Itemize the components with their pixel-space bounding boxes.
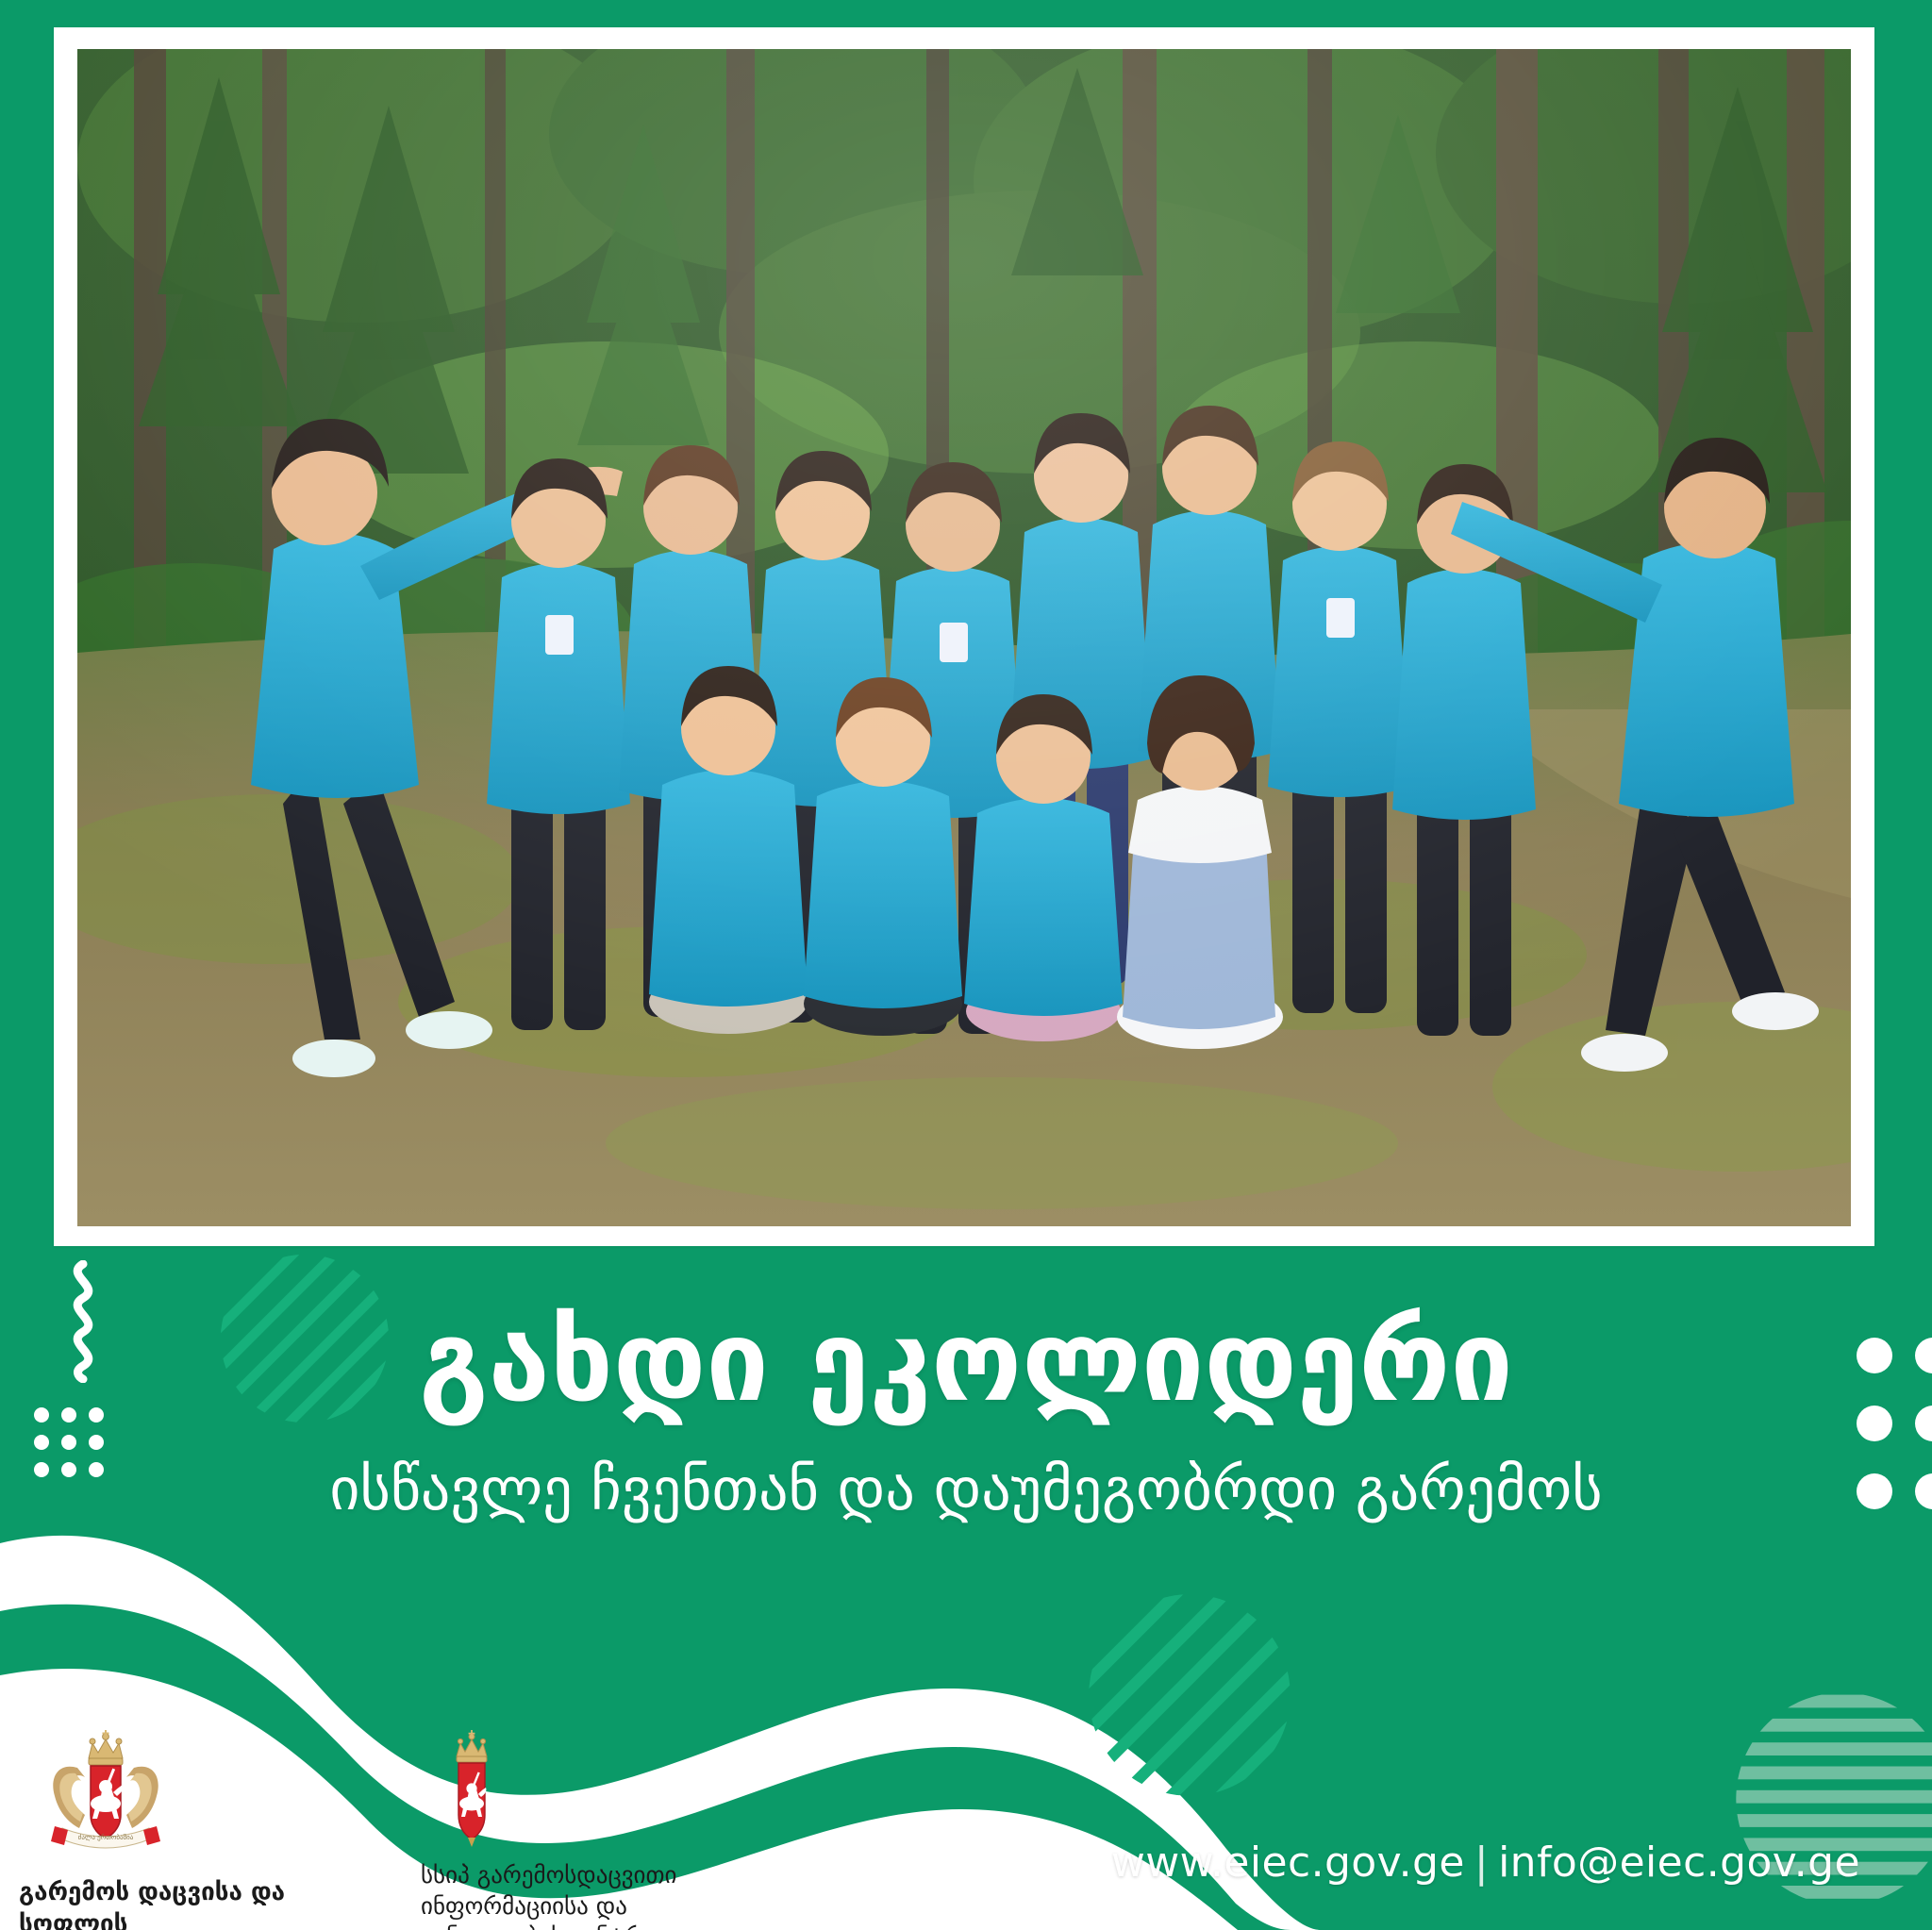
georgia-lesser-coat-of-arms-icon (434, 1724, 796, 1849)
ministry-logo-text: გარემოს დაცვისა და სოფლის მეურნეობის სამ… (19, 1877, 394, 1930)
email-link[interactable]: info@eiec.gov.ge (1498, 1838, 1860, 1887)
georgia-greater-coat-of-arms-icon: ძალა ერთობაშია (40, 1724, 394, 1866)
camp-group-photo (77, 49, 1851, 1226)
photo-frame (54, 27, 1874, 1246)
footer-logos: ძალა ერთობაშია გარემოს დაცვისა და სოფლის… (0, 1724, 1038, 1930)
contact-line: www.eiec.gov.ge|info@eiec.gov.ge (1111, 1838, 1860, 1887)
photo-illustration (77, 49, 1851, 1226)
website-link[interactable]: www.eiec.gov.ge (1111, 1838, 1465, 1887)
striped-circle-diagonal-left-icon (219, 1253, 391, 1424)
squiggle-icon (58, 1260, 108, 1383)
eiec-logo: სსიპ გარემოსდაცვითი ინფორმაციისა და განა… (419, 1724, 796, 1930)
eiec-logo-text: სსიპ გარემოსდაცვითი ინფორმაციისა და განა… (421, 1860, 796, 1930)
contact-separator: | (1474, 1838, 1489, 1887)
ministry-logo: ძალა ერთობაშია გარემოს დაცვისა და სოფლის… (17, 1724, 394, 1930)
dot-grid-large-icon (1857, 1338, 1932, 1526)
dot-grid-small-icon (34, 1407, 104, 1477)
striped-circle-diagonal-center-icon (1087, 1592, 1292, 1798)
poster-canvas: გახდი ეკოლიდერი ისწავლე ჩვენთან და დაუმე… (0, 0, 1932, 1930)
svg-text:ძალა ერთობაშია: ძალა ერთობაშია (78, 1833, 134, 1841)
